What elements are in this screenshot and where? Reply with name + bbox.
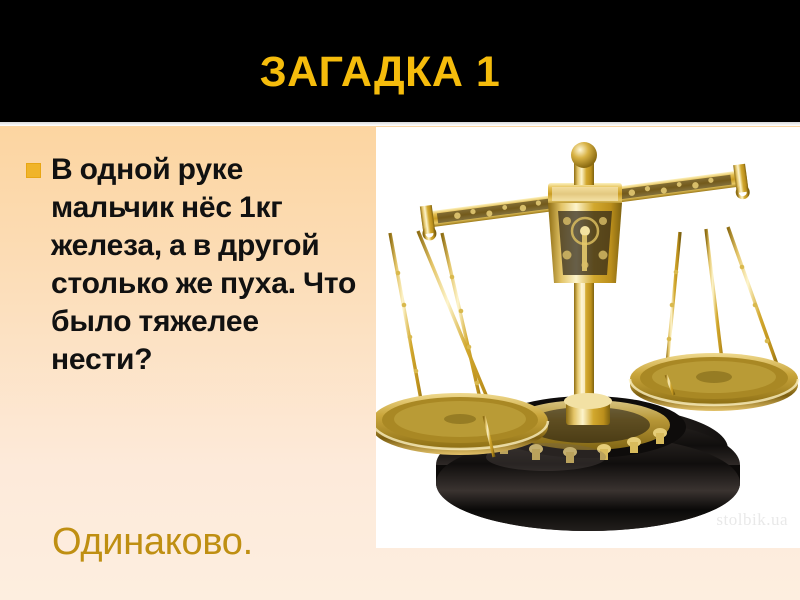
text-column: В одной руке мальчик нёс 1кг железа, а в… (0, 127, 372, 600)
header-divider (0, 122, 800, 126)
page-title: ЗАГАДКА 1 (0, 46, 760, 98)
answer-text: Одинаково. (52, 519, 253, 565)
right-pan (630, 353, 798, 411)
slide: ЗАГАДКА 1 В одной руке мальчик нёс 1кг ж… (0, 0, 800, 600)
square-bullet-icon (26, 163, 41, 178)
image-watermark: stolbik.ua (716, 510, 788, 530)
riddle-text: В одной руке мальчик нёс 1кг железа, а в… (51, 151, 358, 379)
balance-scales-illustration (376, 127, 800, 548)
scales-image: stolbik.ua (376, 127, 800, 548)
riddle-block: В одной руке мальчик нёс 1кг железа, а в… (26, 151, 358, 379)
left-pan (376, 393, 548, 455)
